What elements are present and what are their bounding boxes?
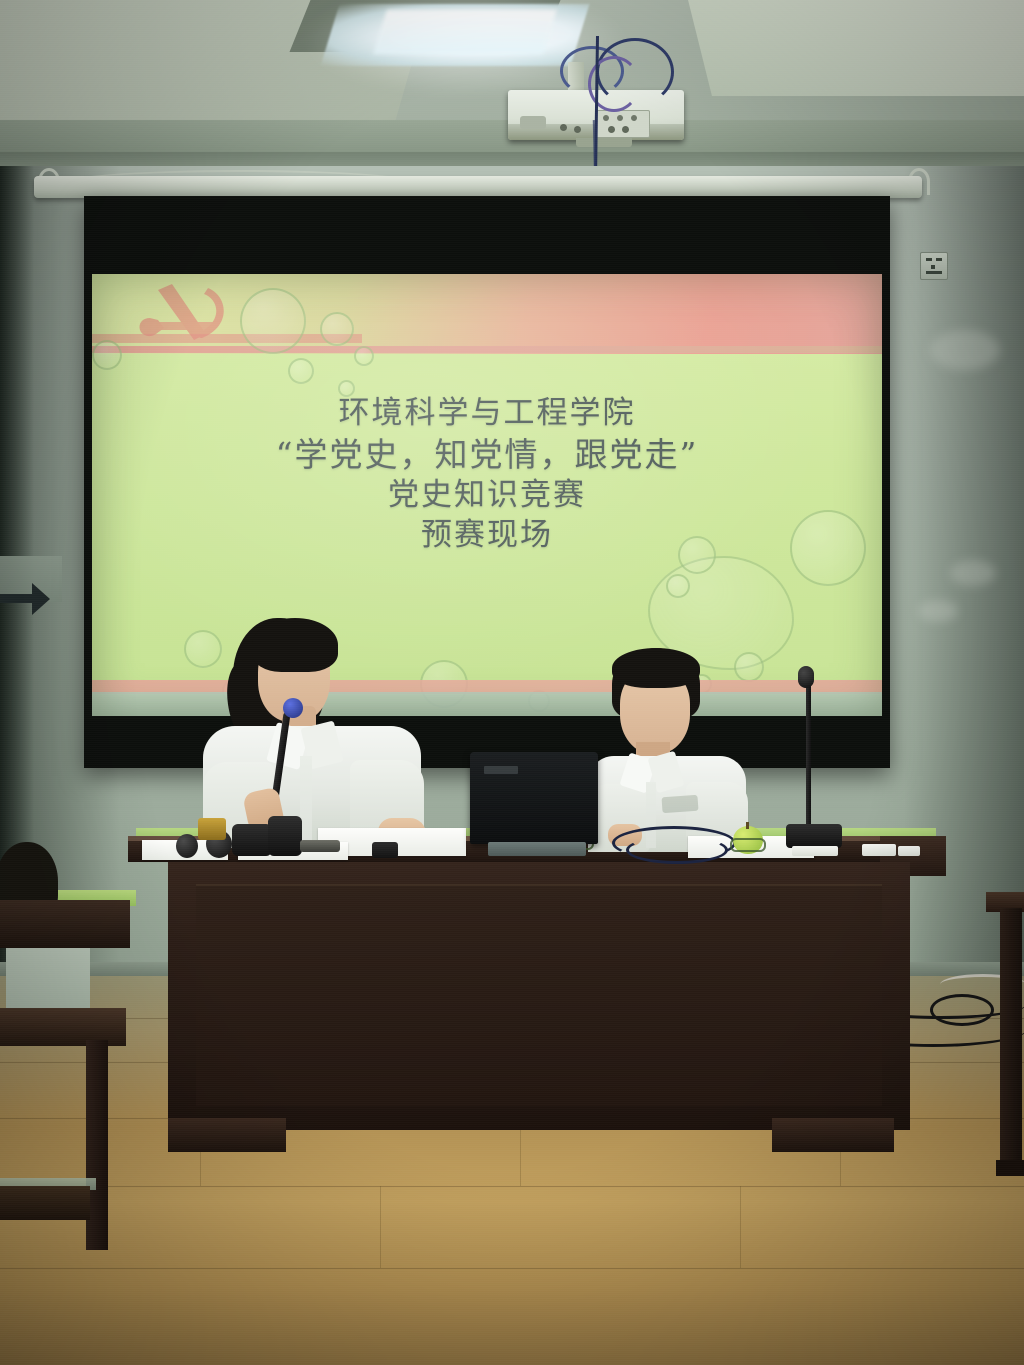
projector-underside: [576, 138, 632, 147]
desk-device[interactable]: [300, 840, 340, 852]
slide-bubble: [184, 630, 222, 668]
handheld-microphone[interactable]: [268, 816, 302, 856]
projection-screen-roller[interactable]: [34, 176, 922, 198]
wall-power-socket[interactable]: [920, 252, 948, 280]
classroom-photo: 环境科学与工程学院 “学党史，知党情，跟党走” 党史知识竞赛 预赛现场: [0, 0, 1024, 1365]
wall-blemish: [918, 600, 958, 622]
gooseneck-microphone-head: [798, 666, 814, 688]
desk-foot-right: [772, 1118, 894, 1152]
audience-table-left: [0, 900, 130, 948]
eyeglasses[interactable]: [730, 838, 766, 852]
slide-bubble: [240, 288, 306, 354]
apple-stem: [746, 822, 749, 829]
desk-front-panel: [196, 884, 882, 1106]
slide-bubble: [288, 358, 314, 384]
desk-foot-left: [168, 1118, 286, 1152]
ceiling-panel-right: [688, 0, 1024, 96]
projected-slide: 环境科学与工程学院 “学党史，知党情，跟党走” 党史知识竞赛 预赛现场: [92, 274, 882, 716]
gooseneck-microphone[interactable]: [806, 672, 811, 838]
slide-bubble: [666, 574, 690, 598]
desk-cable-loop: [626, 836, 728, 864]
slide-bubble: [92, 340, 122, 370]
slide-line-4: 预赛现场: [92, 516, 882, 556]
wall-blemish: [930, 330, 1000, 370]
slide-text-block: 环境科学与工程学院 “学党史，知党情，跟党走” 党史知识竞赛 预赛现场: [92, 394, 882, 555]
handheld-microphone[interactable]: [232, 824, 272, 856]
slide-line-2: “学党史，知党情，跟党走”: [92, 434, 882, 476]
white-remote[interactable]: [792, 846, 838, 856]
audience-table-right-leg: [1000, 908, 1022, 1168]
slide-bubble: [320, 312, 354, 346]
white-remote[interactable]: [898, 846, 920, 856]
slide-bubble: [354, 346, 374, 366]
direction-arrow-head-icon: [32, 583, 50, 615]
woman-hair-top: [252, 618, 338, 672]
audience-table-left: [0, 1186, 90, 1220]
handheld-microphone[interactable]: [176, 834, 198, 858]
slide-bottom-edge: [92, 692, 882, 716]
projection-screen: 环境科学与工程学院 “学党史，知党情，跟党走” 党史知识竞赛 预赛现场: [84, 196, 890, 768]
audience-table-right-foot: [996, 1160, 1024, 1176]
white-remote[interactable]: [862, 844, 896, 856]
desk-device[interactable]: [372, 842, 398, 858]
microphone-base-unit[interactable]: [786, 824, 842, 848]
woman-microphone-head: [283, 698, 303, 718]
man-hair-fringe: [612, 648, 700, 688]
man-shirt-embroidery: [661, 795, 698, 813]
slide-line-1: 环境科学与工程学院: [92, 394, 882, 434]
projector-vent: [596, 110, 650, 138]
laptop-base[interactable]: [488, 842, 586, 856]
laptop-brand-logo: [484, 766, 518, 774]
desk-device[interactable]: [198, 818, 226, 840]
projector-lens: [520, 116, 546, 129]
floor-cable-coil: [930, 994, 994, 1026]
slide-bubble: [734, 652, 764, 682]
fluorescent-tube-core: [373, 10, 556, 54]
wall-blemish: [950, 560, 996, 586]
slide-line-3: 党史知识竞赛: [92, 476, 882, 516]
